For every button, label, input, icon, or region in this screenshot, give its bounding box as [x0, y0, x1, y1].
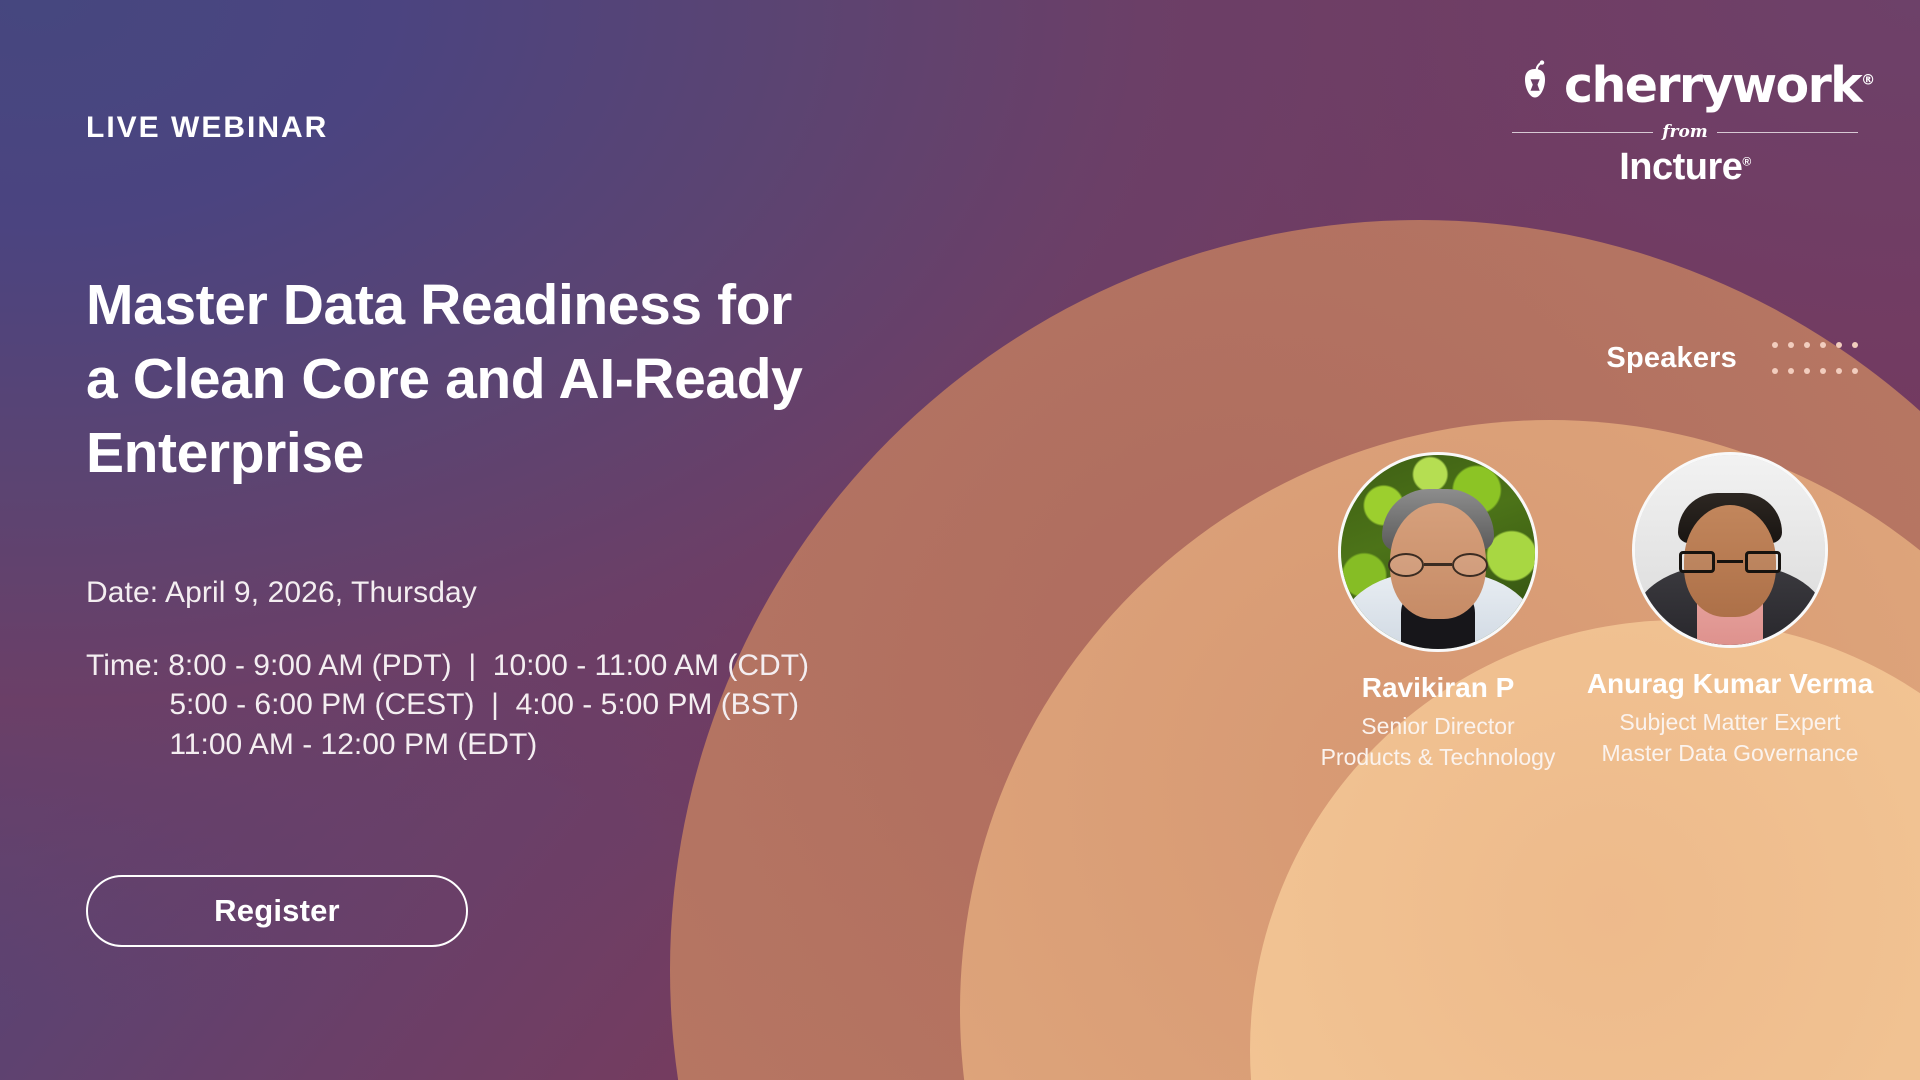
dot — [1772, 368, 1778, 374]
event-date: Date: April 9, 2026, Thursday — [86, 576, 477, 610]
glasses-icon — [1679, 551, 1781, 573]
speaker-card: Anurag Kumar Verma Subject Matter Expert… — [1580, 452, 1880, 772]
speaker-name: Ravikiran P — [1288, 672, 1588, 704]
speaker-role-line-1: Senior Director — [1288, 711, 1588, 742]
dot — [1836, 342, 1842, 348]
speaker-card: Ravikiran P Senior Director Products & T… — [1288, 452, 1588, 772]
event-time-line-1: Time: 8:00 - 9:00 AM (PDT) | 10:00 - 11:… — [86, 646, 809, 685]
brand-wordmark: cherrywork® — [1564, 61, 1875, 110]
dot — [1852, 368, 1858, 374]
dot — [1820, 368, 1826, 374]
title-line-3: Enterprise — [86, 416, 966, 490]
speaker-role-line-2: Products & Technology — [1288, 742, 1588, 773]
brand-registered-mark: ® — [1861, 72, 1875, 88]
dot — [1772, 342, 1778, 348]
dot — [1804, 368, 1810, 374]
left-content-column: LIVE WEBINAR Master Data Readiness for a… — [86, 0, 1086, 1080]
eyebrow-label: LIVE WEBINAR — [86, 111, 328, 145]
logo-connector-text: from — [1662, 122, 1708, 142]
dot — [1788, 368, 1794, 374]
webinar-banner: LIVE WEBINAR Master Data Readiness for a… — [0, 0, 1920, 1080]
divider-right — [1717, 132, 1858, 133]
dot — [1788, 342, 1794, 348]
register-button[interactable]: Register — [86, 875, 468, 947]
divider-left — [1512, 132, 1653, 133]
cherry-apple-icon — [1512, 60, 1558, 110]
dot-grid-decoration — [1767, 332, 1863, 384]
parent-brand-wordmark: Incture® — [1512, 148, 1858, 186]
brand-logo-row: cherrywork® — [1512, 60, 1858, 110]
speaker-role-line-1: Subject Matter Expert — [1580, 707, 1880, 738]
speakers-label: Speakers — [1606, 342, 1737, 375]
avatar — [1632, 452, 1828, 648]
parent-registered-mark: ® — [1742, 154, 1750, 168]
speakers-heading-group: Speakers — [1606, 332, 1863, 384]
speaker-role: Subject Matter Expert Master Data Govern… — [1580, 707, 1880, 768]
title-line-2: a Clean Core and AI-Ready — [86, 342, 966, 416]
parent-brand-text: Incture — [1619, 146, 1742, 188]
dot — [1852, 342, 1858, 348]
speaker-role-line-2: Master Data Governance — [1580, 738, 1880, 769]
dot — [1820, 342, 1826, 348]
event-time-line-3: 11:00 AM - 12:00 PM (EDT) — [86, 725, 809, 764]
speaker-name: Anurag Kumar Verma — [1580, 668, 1880, 700]
logo-connector-row: from — [1512, 122, 1858, 142]
brand-wordmark-text: cherrywork — [1564, 57, 1861, 114]
speakers-list: Ravikiran P Senior Director Products & T… — [1288, 452, 1880, 772]
page-title: Master Data Readiness for a Clean Core a… — [86, 268, 966, 490]
dot — [1836, 368, 1842, 374]
brand-logo: cherrywork® from Incture® — [1512, 60, 1858, 186]
speaker-role: Senior Director Products & Technology — [1288, 711, 1588, 772]
title-line-1: Master Data Readiness for — [86, 268, 966, 342]
glasses-icon — [1386, 553, 1490, 577]
event-time-block: Time: 8:00 - 9:00 AM (PDT) | 10:00 - 11:… — [86, 646, 809, 764]
avatar — [1338, 452, 1538, 652]
event-time-line-2: 5:00 - 6:00 PM (CEST) | 4:00 - 5:00 PM (… — [86, 685, 809, 724]
dot — [1804, 342, 1810, 348]
